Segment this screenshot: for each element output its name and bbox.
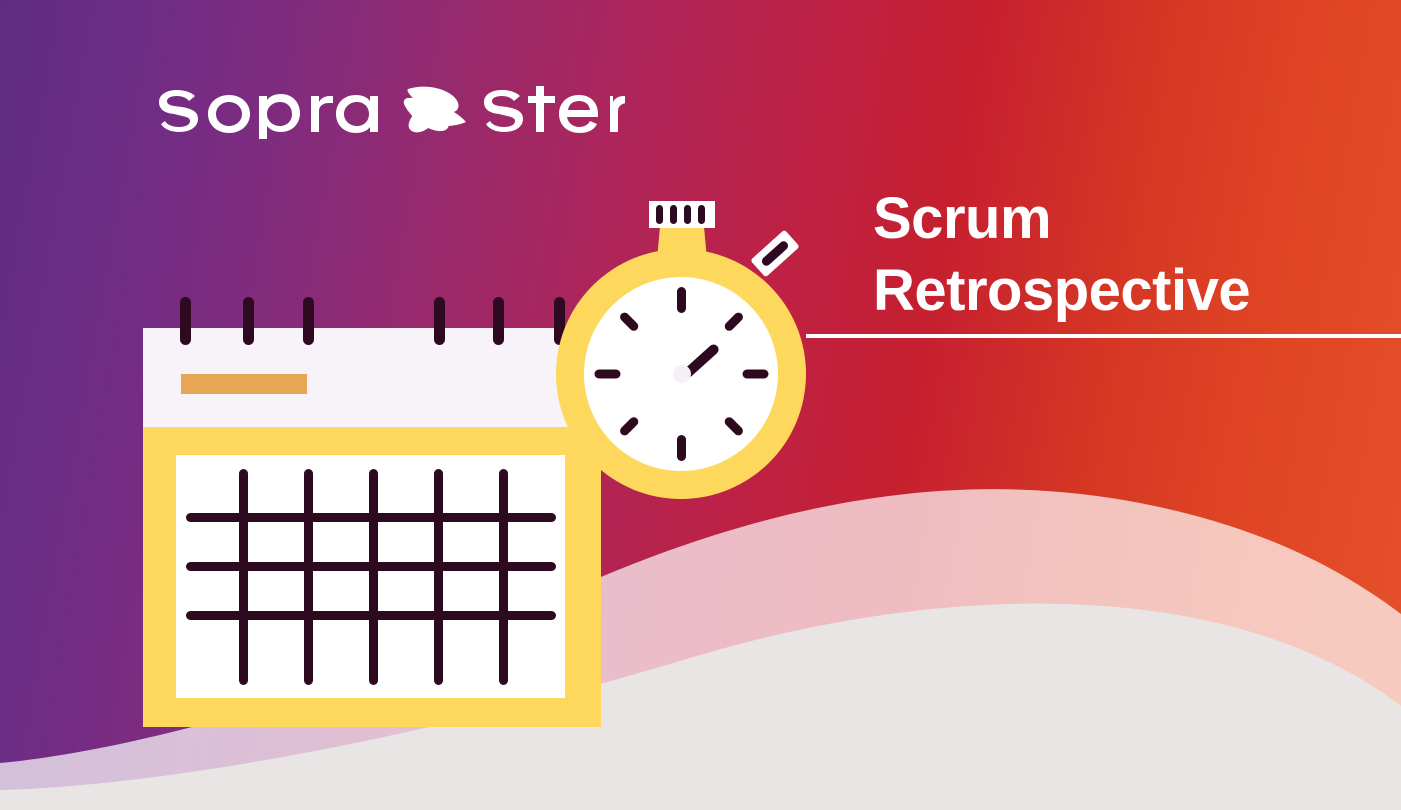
stopwatch-illustration	[552, 196, 810, 496]
calendar-gridline-horizontal	[186, 611, 556, 620]
page-title: Scrum Retrospective	[873, 183, 1393, 327]
stopwatch-tick-9	[594, 370, 620, 379]
calendar-ring-binder	[180, 297, 191, 345]
calendar-gridline-horizontal	[186, 513, 556, 522]
calendar-ring-binder	[243, 297, 254, 345]
calendar-gridline-vertical	[369, 469, 378, 685]
slide-canvas: Scrum Retrospective	[0, 0, 1401, 810]
stopwatch-crown-bar	[670, 205, 677, 224]
s-swoosh-mark	[404, 87, 466, 133]
calendar-gridline-horizontal	[186, 562, 556, 571]
stopwatch-tick-4	[722, 415, 744, 437]
title-underline-rule	[806, 334, 1401, 338]
page-title-line-1: Scrum	[873, 183, 1393, 255]
calendar-illustration	[143, 297, 601, 727]
calendar-title-placeholder-bar	[181, 374, 307, 394]
stopwatch-tick-12	[677, 287, 686, 313]
stopwatch-side-button-bar	[760, 239, 790, 267]
stopwatch-tick-7	[618, 415, 640, 437]
calendar-gridline-vertical	[239, 469, 248, 685]
stopwatch-tick-10	[618, 311, 640, 333]
stopwatch-side-button	[750, 230, 800, 278]
stopwatch-crown-bar	[698, 205, 705, 224]
page-title-line-2: Retrospective	[873, 255, 1393, 327]
calendar-gridline-vertical	[434, 469, 443, 685]
calendar-grid-area	[176, 455, 565, 698]
stopwatch-crown-bar	[684, 205, 691, 224]
calendar-gridline-vertical	[304, 469, 313, 685]
sopra-steria-logo	[155, 78, 625, 140]
calendar-gridline-vertical	[499, 469, 508, 685]
stopwatch-tick-1	[722, 311, 744, 333]
stopwatch-center-hub	[673, 365, 691, 383]
calendar-ring-binder	[434, 297, 445, 345]
calendar-ring-binder	[303, 297, 314, 345]
logo-wordmark-left	[159, 90, 378, 139]
stopwatch-tick-6	[677, 435, 686, 461]
stopwatch-tick-3	[742, 370, 768, 379]
calendar-ring-binder	[493, 297, 504, 345]
logo-wordmark-right	[484, 86, 625, 133]
stopwatch-crown-bar	[656, 205, 663, 224]
